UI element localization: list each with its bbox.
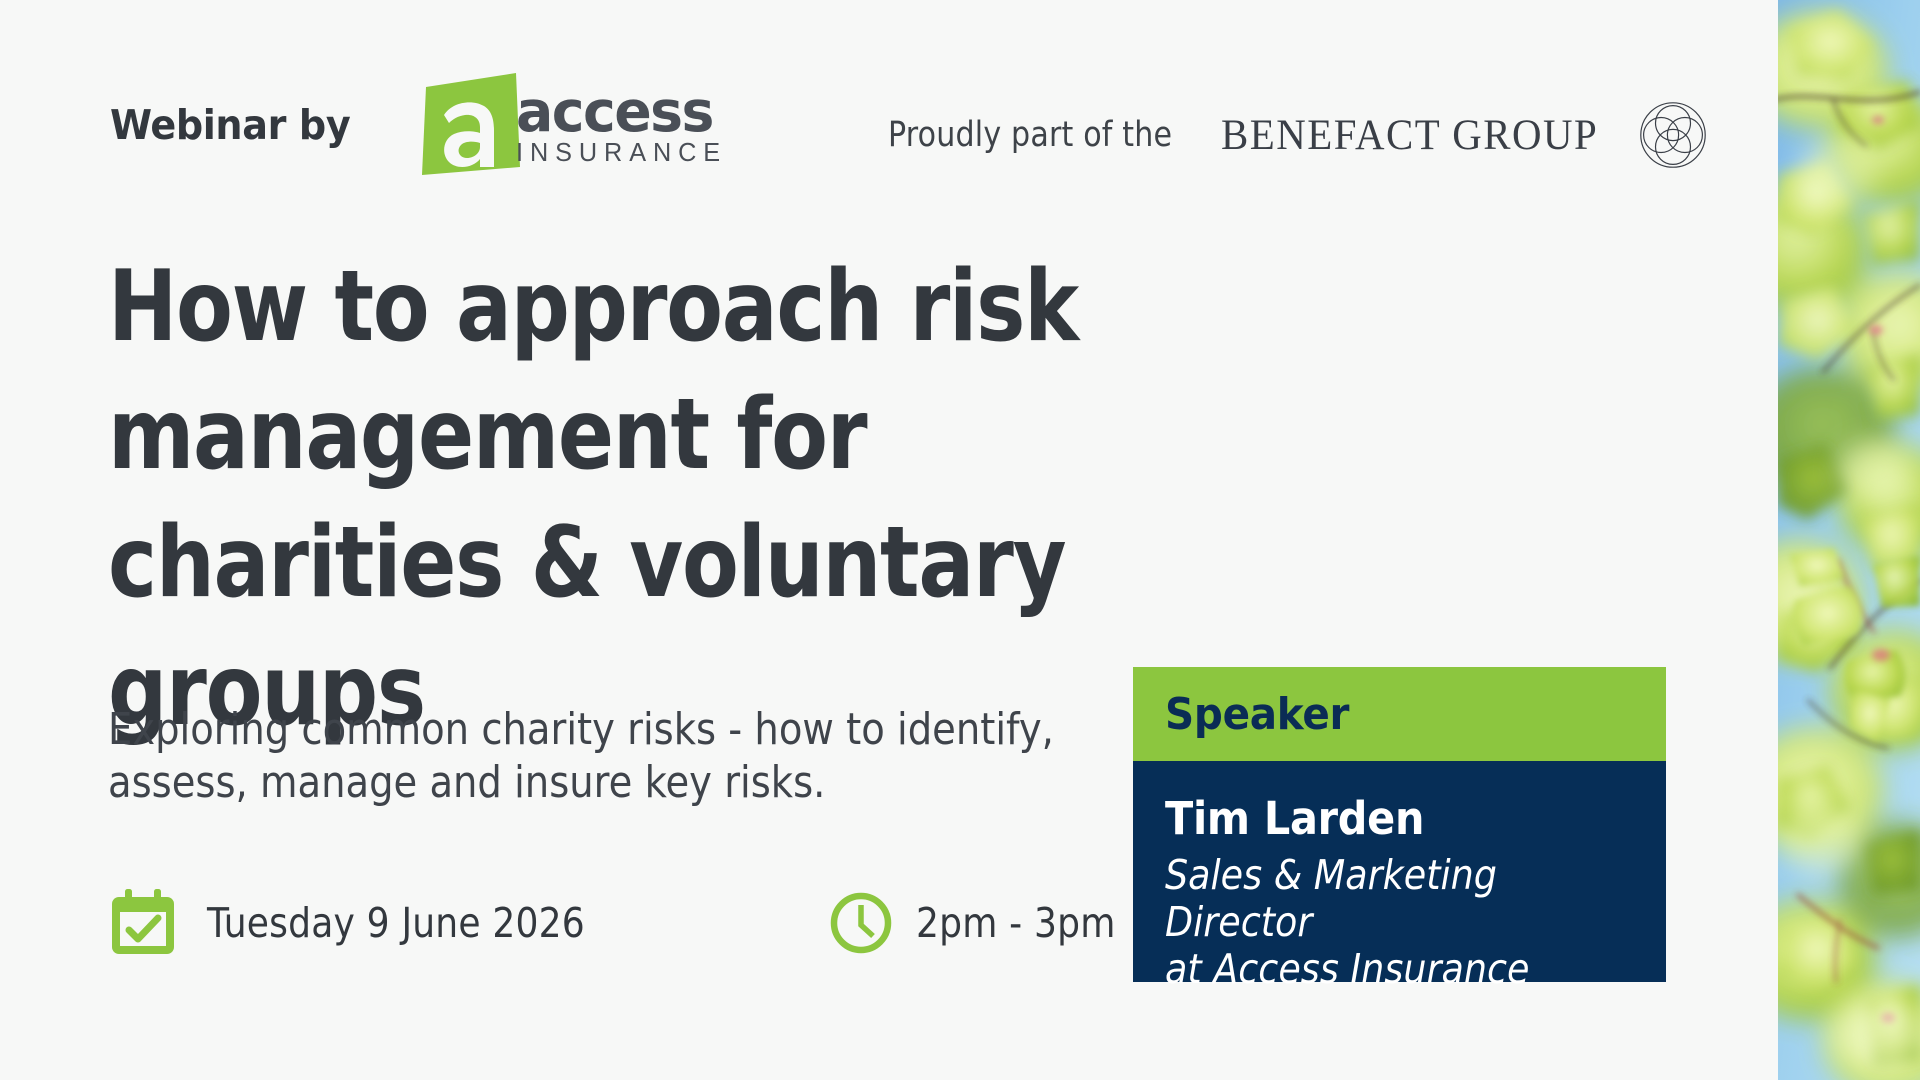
speaker-name: Tim Larden [1165, 795, 1600, 843]
benefact-group-lockup: Proudly part of the BENEFACT GROUP [888, 100, 1708, 170]
content-area: Webinar by access INSURANCE Proudly part… [0, 0, 1778, 1080]
event-time-text: 2pm - 3pm [916, 899, 1116, 947]
speaker-header-label: Speaker [1165, 689, 1349, 740]
green-maple-leaves-image [1778, 0, 1920, 1080]
brand-row: Webinar by access INSURANCE [110, 70, 751, 180]
leaves-photo-strip [1778, 0, 1920, 1080]
speaker-card-header: Speaker [1133, 667, 1666, 761]
event-meta-row: Tuesday 9 June 2026 2pm - 3pm [108, 888, 1143, 958]
benefact-rosette-icon [1638, 100, 1708, 170]
headline: How to approach risk management for char… [108, 243, 1207, 755]
event-date: Tuesday 9 June 2026 [108, 888, 636, 958]
description: Exploring common charity risks - how to … [108, 703, 1062, 809]
webinar-by-label: Webinar by [110, 101, 350, 149]
benefact-group-name: BENEFACT GROUP [1221, 111, 1598, 160]
calendar-check-icon [108, 888, 178, 958]
access-insurance-logo: access INSURANCE [416, 69, 751, 181]
event-time: 2pm - 3pm [828, 890, 1143, 956]
benefact-prefix-label: Proudly part of the [888, 115, 1172, 155]
access-name: access [516, 83, 741, 141]
webinar-promo-banner: Webinar by access INSURANCE Proudly part… [0, 0, 1920, 1080]
access-subtitle: INSURANCE [516, 140, 746, 166]
speaker-card: Speaker Tim Larden Sales & Marketing Dir… [1133, 667, 1666, 982]
speaker-role: Sales & Marketing Director at Access Ins… [1165, 852, 1586, 993]
clock-icon [828, 890, 894, 956]
speaker-card-body: Tim Larden Sales & Marketing Director at… [1133, 761, 1666, 982]
event-date-text: Tuesday 9 June 2026 [207, 899, 585, 947]
access-wordmark: access INSURANCE [516, 83, 748, 166]
access-a-mark-icon [416, 71, 524, 179]
